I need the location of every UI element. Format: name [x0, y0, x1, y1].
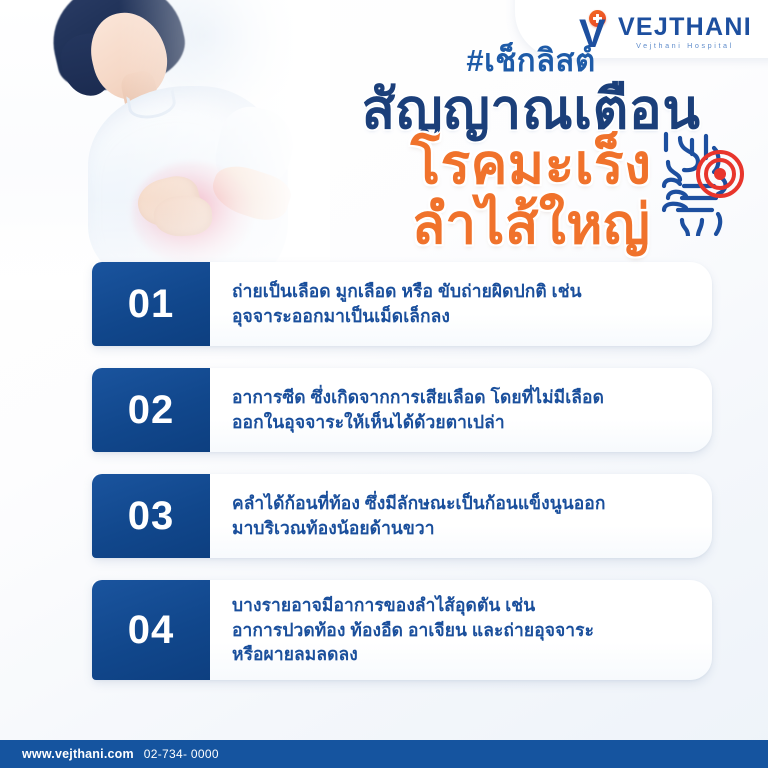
- item-line: ออกในอุจจาระให้เห็นได้ด้วยตาเปล่า: [232, 410, 604, 435]
- logo-text: VEJTHANI Vejthani Hospital: [618, 15, 752, 49]
- target-center-dot: [714, 168, 726, 180]
- logo-v-letter: V: [579, 19, 615, 49]
- list-item: 02 อาการซีด ซึ่งเกิดจากการเสียเลือด โดยท…: [92, 368, 712, 452]
- item-line: หรือผายลมลดลง: [232, 642, 594, 667]
- item-number-badge: 02: [92, 368, 210, 452]
- item-line: อาการปวดท้อง ท้องอืด อาเจียน และถ่ายอุจจ…: [232, 618, 594, 643]
- item-text: คลำได้ก้อนที่ท้อง ซึ่งมีลักษณะเป็นก้อนแข…: [210, 474, 712, 558]
- footer-website[interactable]: www.vejthani.com: [22, 747, 134, 761]
- footer-bar: www.vejthani.com 02-734- 0000: [0, 740, 768, 768]
- list-item: 01 ถ่ายเป็นเลือด มูกเลือด หรือ ขับถ่ายผิ…: [92, 262, 712, 346]
- item-line: อาการซีด ซึ่งเกิดจากการเสียเลือด โดยที่ไ…: [232, 385, 604, 410]
- item-text: อาการซีด ซึ่งเกิดจากการเสียเลือด โดยที่ไ…: [210, 368, 712, 452]
- item-line: คลำได้ก้อนที่ท้อง ซึ่งมีลักษณะเป็นก้อนแข…: [232, 491, 605, 516]
- logo-subtitle: Vejthani Hospital: [618, 42, 752, 49]
- vejthani-logo: V VEJTHANI Vejthani Hospital: [577, 11, 752, 49]
- item-line: ถ่ายเป็นเลือด มูกเลือด หรือ ขับถ่ายผิดปก…: [232, 279, 582, 304]
- item-number-badge: 04: [92, 580, 210, 680]
- logo-name: VEJTHANI: [618, 15, 752, 40]
- intestine-target-icon: [658, 128, 756, 236]
- item-line: อุจจาระออกมาเป็นเม็ดเล็กลง: [232, 304, 582, 329]
- warning-signs-list: 01 ถ่ายเป็นเลือด มูกเลือด หรือ ขับถ่ายผิ…: [92, 262, 712, 680]
- infographic-poster: V VEJTHANI Vejthani Hospital #เช็กลิสต์ …: [0, 0, 768, 768]
- item-text: บางรายอาจมีอาการของลำไส้อุดตัน เช่น อากา…: [210, 580, 712, 680]
- photo-fade-overlay: [0, 0, 330, 300]
- list-item: 04 บางรายอาจมีอาการของลำไส้อุดตัน เช่น อ…: [92, 580, 712, 680]
- item-text: ถ่ายเป็นเลือด มูกเลือด หรือ ขับถ่ายผิดปก…: [210, 262, 712, 346]
- woman-abdominal-pain-photo: [0, 0, 330, 300]
- item-line: บางรายอาจมีอาการของลำไส้อุดตัน เช่น: [232, 593, 594, 618]
- item-line: มาบริเวณท้องน้อยด้านขวา: [232, 516, 605, 541]
- list-item: 03 คลำได้ก้อนที่ท้อง ซึ่งมีลักษณะเป็นก้อ…: [92, 474, 712, 558]
- footer-phone[interactable]: 02-734- 0000: [144, 747, 219, 761]
- logo-mark: V: [577, 11, 617, 49]
- item-number-badge: 01: [92, 262, 210, 346]
- item-number-badge: 03: [92, 474, 210, 558]
